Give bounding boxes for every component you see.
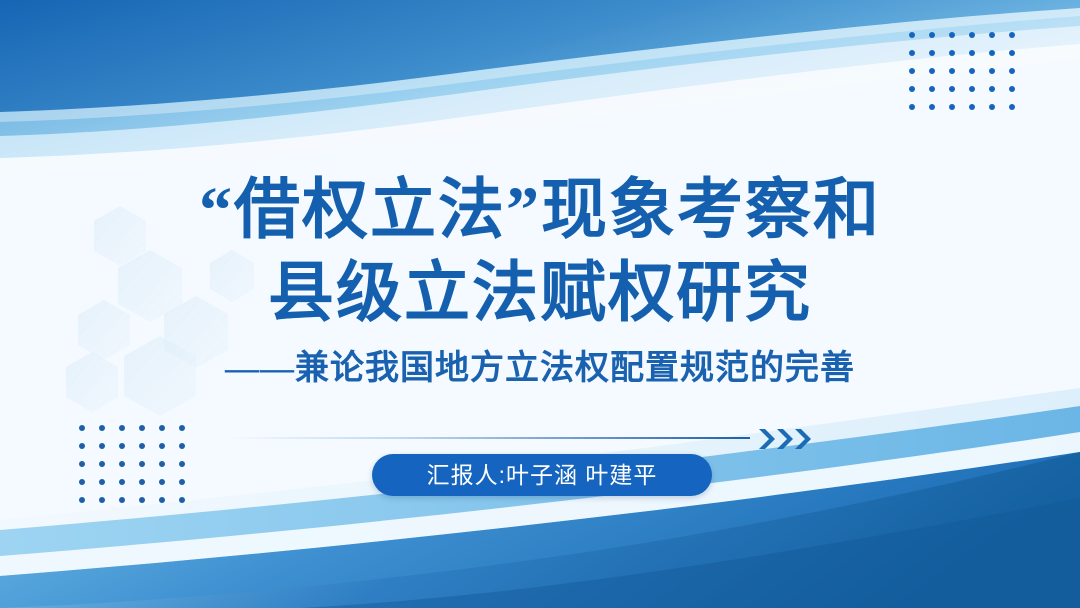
presentation-slide: “借权立法”现象考察和 县级立法赋权研究 ——兼论我国地方立法权配置规范的完善 … — [0, 0, 1080, 608]
dot-grid-icon — [909, 32, 1029, 122]
page-title-line-1: “借权立法”现象考察和 — [0, 172, 1080, 250]
divider — [230, 437, 750, 439]
presenter-badge: 汇报人:叶子涵 叶建平 — [372, 454, 712, 496]
dot-grid-icon — [79, 425, 199, 515]
page-title-line-2: 县级立法赋权研究 — [0, 255, 1080, 333]
page-subtitle: ——兼论我国地方立法权配置规范的完善 — [0, 347, 1080, 391]
chevrons-right-icon — [757, 426, 819, 452]
